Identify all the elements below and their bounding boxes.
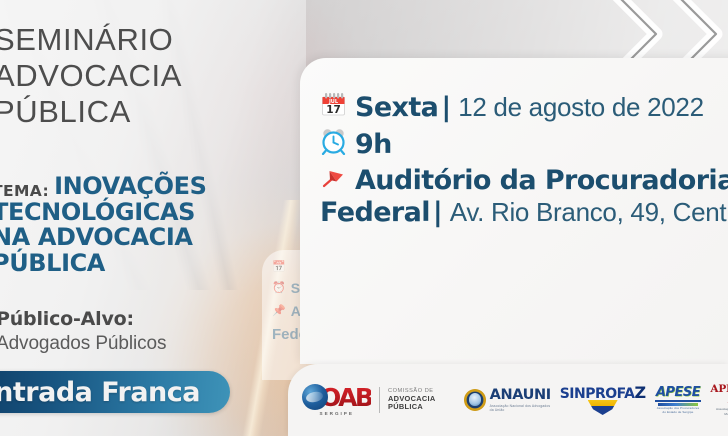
poster-theme: TEMA: INOVAÇÕES TECNOLÓGICAS NA ADVOCACI… <box>0 174 302 277</box>
event-weekday: Sexta <box>355 92 438 123</box>
event-date-row: JUL 17 Sexta | 12 de agosto de 2022 <box>320 91 728 123</box>
poster-title-line-1: SEMINÁRIO <box>0 22 294 58</box>
date-separator: | <box>441 92 451 123</box>
theme-label: TEMA: <box>0 182 49 200</box>
aprome-subtitle: Associação dos Procuradores do Município… <box>710 407 728 415</box>
pushpin-icon <box>320 164 347 196</box>
poster-title-line-2: ADVOCACIA <box>0 58 294 94</box>
oab-commission-label: COMISSÃO DE ADVOCACIA PÚBLICA <box>388 388 436 412</box>
poster-audience: Público-Alvo: Advogados Públicos <box>0 308 296 355</box>
oab-logo: OAB SERGIPE COMISSÃO DE ADVOCACIA PÚBLIC… <box>302 384 436 416</box>
theme-line-2: TECNOLÓGICAS <box>0 200 302 226</box>
place-separator: | <box>433 197 443 228</box>
oab-state-label: SERGIPE <box>320 411 354 416</box>
anauni-subtitle: Associação Nacional dos Advogados da Uni… <box>490 404 551 412</box>
admission-badge: Entrada Franca <box>0 371 230 413</box>
audience-label: Público-Alvo: <box>0 308 296 331</box>
anauni-seal-icon <box>464 389 486 411</box>
poster-title: SEMINÁRIO ADVOCACIA PÚBLICA <box>0 22 294 130</box>
theme-line-1: INOVAÇÕES <box>54 174 206 200</box>
anauni-wordmark: ANAUNI <box>490 388 551 403</box>
event-details-card: JUL 17 Sexta | 12 de agosto de 2022 <box>300 58 728 364</box>
audience-value: Advogados Públicos <box>0 333 296 355</box>
oab-commission-line2: ADVOCACIA PÚBLICA <box>388 395 436 412</box>
sponsor-logo-bar: OAB SERGIPE COMISSÃO DE ADVOCACIA PÚBLIC… <box>288 364 728 436</box>
ghost-time-text: S <box>291 280 300 296</box>
event-poster: 📅 ⏰ S 📌 Au Fede <box>0 0 728 436</box>
anauni-logo: ANAUNI Associação Nacional dos Advogados… <box>464 388 551 412</box>
alarm-clock-icon <box>320 128 347 160</box>
aprome-aju-logo: APROME-AJU Associação dos Procuradores d… <box>710 384 728 415</box>
apese-wordmark: APESE <box>655 386 702 402</box>
sinprofaz-wordmark: SINPROFA <box>560 386 635 402</box>
oab-divider <box>379 387 380 413</box>
event-place-row: Auditório da Procuradoria <box>320 164 728 196</box>
sinprofaz-logo: SINPROFAZ <box>560 385 646 415</box>
sinprofaz-shield-icon <box>588 400 618 415</box>
sinprofaz-wordmark-tail: Z <box>634 383 645 402</box>
event-time: 9h <box>355 129 392 160</box>
theme-line-3: NA ADVOCACIA <box>0 225 302 251</box>
event-time-row: 9h <box>320 128 728 160</box>
aprome-wordmark: APROME-AJU <box>710 384 728 405</box>
event-venue-line1: Auditório da Procuradoria <box>355 165 728 196</box>
poster-title-line-3: PÚBLICA <box>0 94 294 130</box>
ghost-alarm-clock-icon: ⏰ <box>272 283 286 294</box>
theme-line-4: PÚBLICA <box>0 251 302 277</box>
event-venue-line2: Federal <box>320 197 430 228</box>
event-address: Av. Rio Branco, 49, Centro <box>450 197 728 228</box>
admission-badge-label: Entrada Franca <box>0 377 200 408</box>
event-place-row-2: Federal | Av. Rio Branco, 49, Centro <box>320 197 728 228</box>
apese-subtitle: Associação dos Procuradores do Estado de… <box>655 407 702 415</box>
partner-logos: ANAUNI Associação Nacional dos Advogados… <box>464 384 728 415</box>
svg-text:17: 17 <box>326 104 341 116</box>
calendar-icon: JUL 17 <box>320 91 347 123</box>
event-full-date: 12 de agosto de 2022 <box>458 92 704 123</box>
oab-globe-icon <box>302 384 328 410</box>
apese-logo: APESE Associação dos Procuradores do Est… <box>655 386 702 415</box>
